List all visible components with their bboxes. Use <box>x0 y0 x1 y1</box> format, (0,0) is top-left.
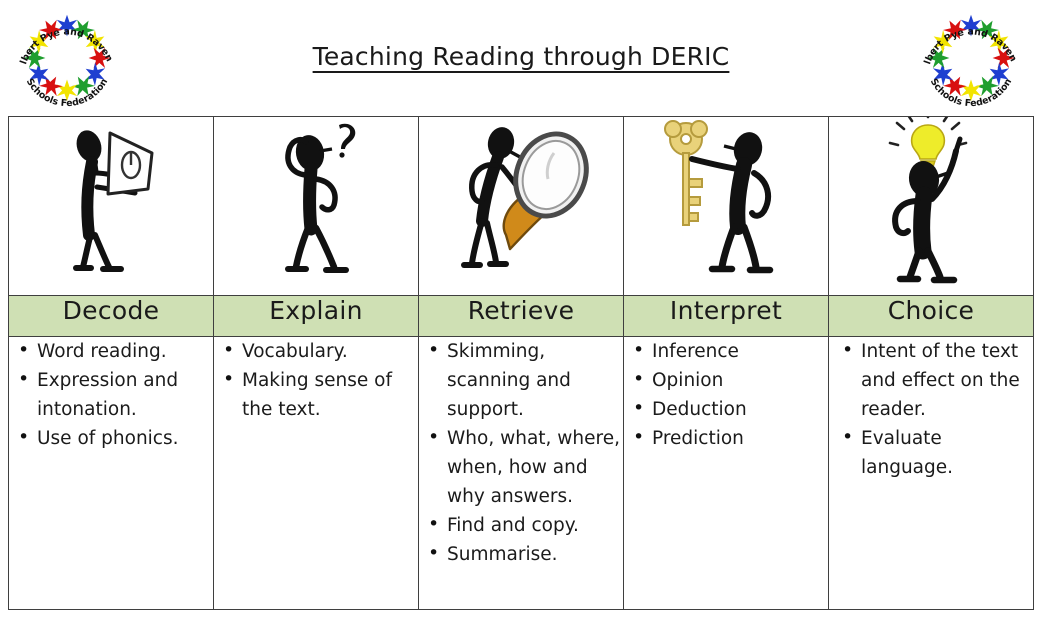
list-item: Word reading. <box>35 337 213 366</box>
column-header-decode: Decode <box>9 296 214 337</box>
page-title: Teaching Reading through DERIC <box>0 42 1042 71</box>
school-federation-logo-right: The Albert Pye and Ravensmere Schools Fe… <box>912 4 1030 108</box>
list-item: Use of phonics. <box>35 424 213 453</box>
list-item: Intent of the text and effect on the rea… <box>859 337 1033 424</box>
list-item: Inference <box>650 337 828 366</box>
table-row-headers: Decode Explain Retrieve Interpret Choice <box>9 296 1034 337</box>
list-item: Vocabulary. <box>240 337 418 366</box>
deric-poster: The Albert Pye and Ravensmere Schools Fe… <box>0 0 1042 625</box>
table-row-content: Word reading. Expression and intonation.… <box>9 337 1034 610</box>
illustration-cell-explain <box>214 117 419 296</box>
content-cell-choice: Intent of the text and effect on the rea… <box>829 337 1034 610</box>
stick-figure-holding-key-icon <box>656 117 796 279</box>
illustration-cell-choice <box>829 117 1034 296</box>
stick-figure-lightbulb-idea-icon <box>866 117 996 285</box>
bullet-list-retrieve: Skimming, scanning and support. Who, wha… <box>419 337 623 569</box>
content-cell-explain: Vocabulary. Making sense of the text. <box>214 337 419 610</box>
list-item: Prediction <box>650 424 828 453</box>
list-item: Making sense of the text. <box>240 366 418 424</box>
deric-table: Decode Explain Retrieve Interpret Choice… <box>8 116 1034 610</box>
list-item: Who, what, where, when, how and why answ… <box>445 424 623 511</box>
bullet-list-decode: Word reading. Expression and intonation.… <box>9 337 213 453</box>
content-cell-retrieve: Skimming, scanning and support. Who, wha… <box>419 337 624 610</box>
column-header-interpret: Interpret <box>624 296 829 337</box>
list-item: Opinion <box>650 366 828 395</box>
content-cell-interpret: Inference Opinion Deduction Prediction <box>624 337 829 610</box>
bullet-list-explain: Vocabulary. Making sense of the text. <box>214 337 418 424</box>
list-item: Evaluate language. <box>859 424 1033 482</box>
list-item: Find and copy. <box>445 511 623 540</box>
list-item: Expression and intonation. <box>35 366 213 424</box>
column-header-choice: Choice <box>829 296 1034 337</box>
table-row-illustrations <box>9 117 1034 296</box>
illustration-cell-interpret <box>624 117 829 296</box>
illustration-cell-retrieve <box>419 117 624 296</box>
illustration-cell-decode <box>9 117 214 296</box>
bullet-list-interpret: Inference Opinion Deduction Prediction <box>624 337 828 453</box>
bullet-list-choice: Intent of the text and effect on the rea… <box>829 337 1033 482</box>
column-header-retrieve: Retrieve <box>419 296 624 337</box>
list-item: Deduction <box>650 395 828 424</box>
column-header-explain: Explain <box>214 296 419 337</box>
key-shape <box>665 121 707 225</box>
list-item: Summarise. <box>445 540 623 569</box>
page-header: The Albert Pye and Ravensmere Schools Fe… <box>0 0 1042 112</box>
content-cell-decode: Word reading. Expression and intonation.… <box>9 337 214 610</box>
stick-figure-thinking-question-mark-icon <box>256 117 376 279</box>
list-item: Skimming, scanning and support. <box>445 337 623 424</box>
stick-figure-reading-paper-icon <box>51 117 171 279</box>
stick-figure-magnifying-glass-icon <box>446 117 596 279</box>
